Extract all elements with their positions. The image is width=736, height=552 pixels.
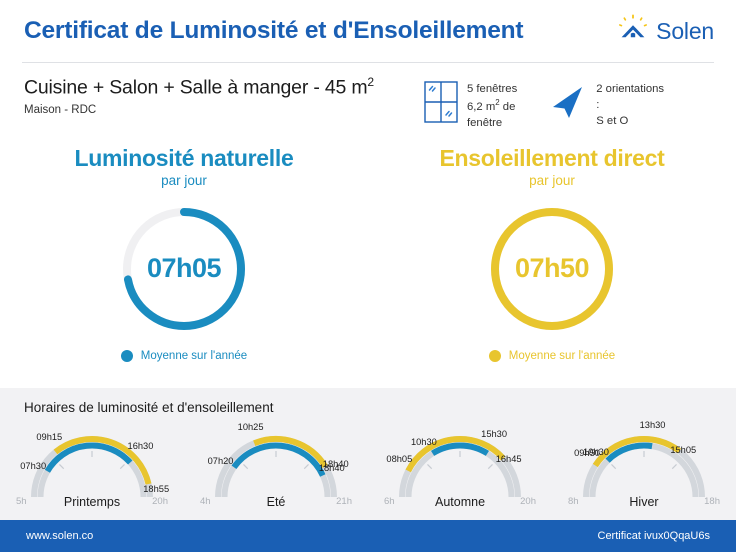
solen-house-sun-icon [618, 14, 648, 49]
season-gauge-printemps: 5h20h07h3009h1516h3018h55Printemps [0, 419, 184, 513]
season-tick-mark [59, 464, 63, 468]
gauge-ring-wrapper: 07h05 [0, 202, 368, 336]
season-tick-mark [672, 464, 676, 468]
seasons-row: 5h20h07h3009h1516h3018h55Printemps4h21h0… [0, 419, 736, 513]
luminosity-end-label: 16h30 [128, 441, 154, 451]
season-tick-mark [488, 464, 492, 468]
sunlight-start-label: 09h15 [36, 432, 62, 442]
gauge-title: Ensoleillement direct [368, 145, 736, 172]
donut-gauge: 07h50 [485, 202, 619, 336]
windows-count: 5 fenêtres [467, 81, 517, 97]
orientation-values: S et O [596, 113, 664, 129]
windows-info-text: 5 fenêtres 6,2 m2 de fenêtre [467, 81, 517, 131]
sunlight-start-label: 09h50 [574, 448, 600, 458]
season-tick-mark [304, 464, 308, 468]
gauge-subtitle: par jour [368, 173, 736, 188]
window-icon [424, 81, 458, 123]
footer-certificate-id: Certificat ivux0QqaU6s [598, 530, 711, 542]
season-gauge-automne: 6h20h10h3008h0515h3016h45Automne [368, 419, 552, 513]
legend-label: Moyenne sur l'année [509, 350, 615, 362]
luminosity-end-label: 13h30 [640, 420, 666, 430]
luminosity-end-label: 15h30 [481, 429, 507, 439]
seasons-panel-title: Horaires de luminosité et d'ensoleilleme… [0, 388, 736, 415]
season-gauge-hiver: 8h18h10h3009h5013h3015h05Hiver [552, 419, 736, 513]
subheader: Cuisine + Salon + Salle à manger - 45 m2… [0, 63, 736, 131]
room-info: Cuisine + Salon + Salle à manger - 45 m2… [24, 75, 414, 116]
room-title-text: Cuisine + Salon + Salle à manger - 45 m [24, 77, 367, 99]
page-header: Certificat de Luminosité et d'Ensoleille… [0, 0, 736, 62]
season-tick-mark [611, 464, 615, 468]
luminosity-start-label: 07h20 [208, 456, 234, 466]
season-name-label: Hiver [552, 495, 736, 509]
season-tick-mark [427, 464, 431, 468]
season-name-label: Eté [184, 495, 368, 509]
gauge-sunlight: Ensoleillement direct par jour 07h50 Moy… [368, 145, 736, 362]
windows-info: 5 fenêtres 6,2 m2 de fenêtre [424, 75, 517, 131]
page-footer: www.solen.co Certificat ivux0QqaU6s [0, 520, 736, 552]
gauge-subtitle: par jour [0, 173, 368, 188]
windows-area-unit: fenêtre [467, 115, 517, 131]
gauge-ring-wrapper: 07h50 [368, 202, 736, 336]
room-title-superscript: 2 [367, 75, 374, 89]
season-name-label: Automne [368, 495, 552, 509]
windows-area: 6,2 m2 de [467, 97, 517, 115]
season-tick-mark [120, 464, 124, 468]
sunlight-end-label: 15h05 [670, 445, 696, 455]
season-gauge-eté: 4h21h07h2010h2518h4018h40Eté [184, 419, 368, 513]
season-tick-mark [243, 464, 247, 468]
gauges-section: Luminosité naturelle par jour 07h05 Moye… [0, 145, 736, 362]
room-subtitle: Maison - RDC [24, 104, 414, 116]
seasons-panel: Horaires de luminosité et d'ensoleilleme… [0, 388, 736, 520]
gauge-title: Luminosité naturelle [0, 145, 368, 172]
orientation-colon: : [596, 97, 664, 113]
gauge-legend: Moyenne sur l'année [368, 350, 736, 362]
sunlight-end-label: 18h55 [143, 484, 169, 494]
legend-label: Moyenne sur l'année [141, 350, 247, 362]
gauge-value: 07h50 [485, 202, 619, 336]
orientation-info: 2 orientations : S et O [549, 75, 664, 129]
sunlight-end-label: 16h45 [496, 454, 522, 464]
donut-gauge: 07h05 [117, 202, 251, 336]
luminosity-start-label: 10h30 [411, 437, 437, 447]
orientation-info-text: 2 orientations : S et O [596, 81, 664, 129]
luminosity-start-label: 07h30 [20, 461, 46, 471]
brand-logo: Solen [618, 14, 714, 49]
gauge-legend: Moyenne sur l'année [0, 350, 368, 362]
page-title: Certificat de Luminosité et d'Ensoleille… [24, 17, 523, 45]
navigation-arrow-icon [549, 85, 587, 119]
sunlight-end-label: 18h40 [319, 463, 345, 473]
room-title: Cuisine + Salon + Salle à manger - 45 m2 [24, 75, 414, 100]
footer-website-link[interactable]: www.solen.co [26, 530, 93, 542]
season-name-label: Printemps [0, 495, 184, 509]
orientation-count: 2 orientations [596, 81, 664, 97]
gauge-value: 07h05 [117, 202, 251, 336]
brand-name: Solen [656, 18, 714, 45]
legend-dot-icon [121, 350, 133, 362]
gauge-luminosity: Luminosité naturelle par jour 07h05 Moye… [0, 145, 368, 362]
sunlight-start-label: 08h05 [386, 454, 412, 464]
sunlight-start-label: 10h25 [238, 422, 264, 432]
legend-dot-icon [489, 350, 501, 362]
